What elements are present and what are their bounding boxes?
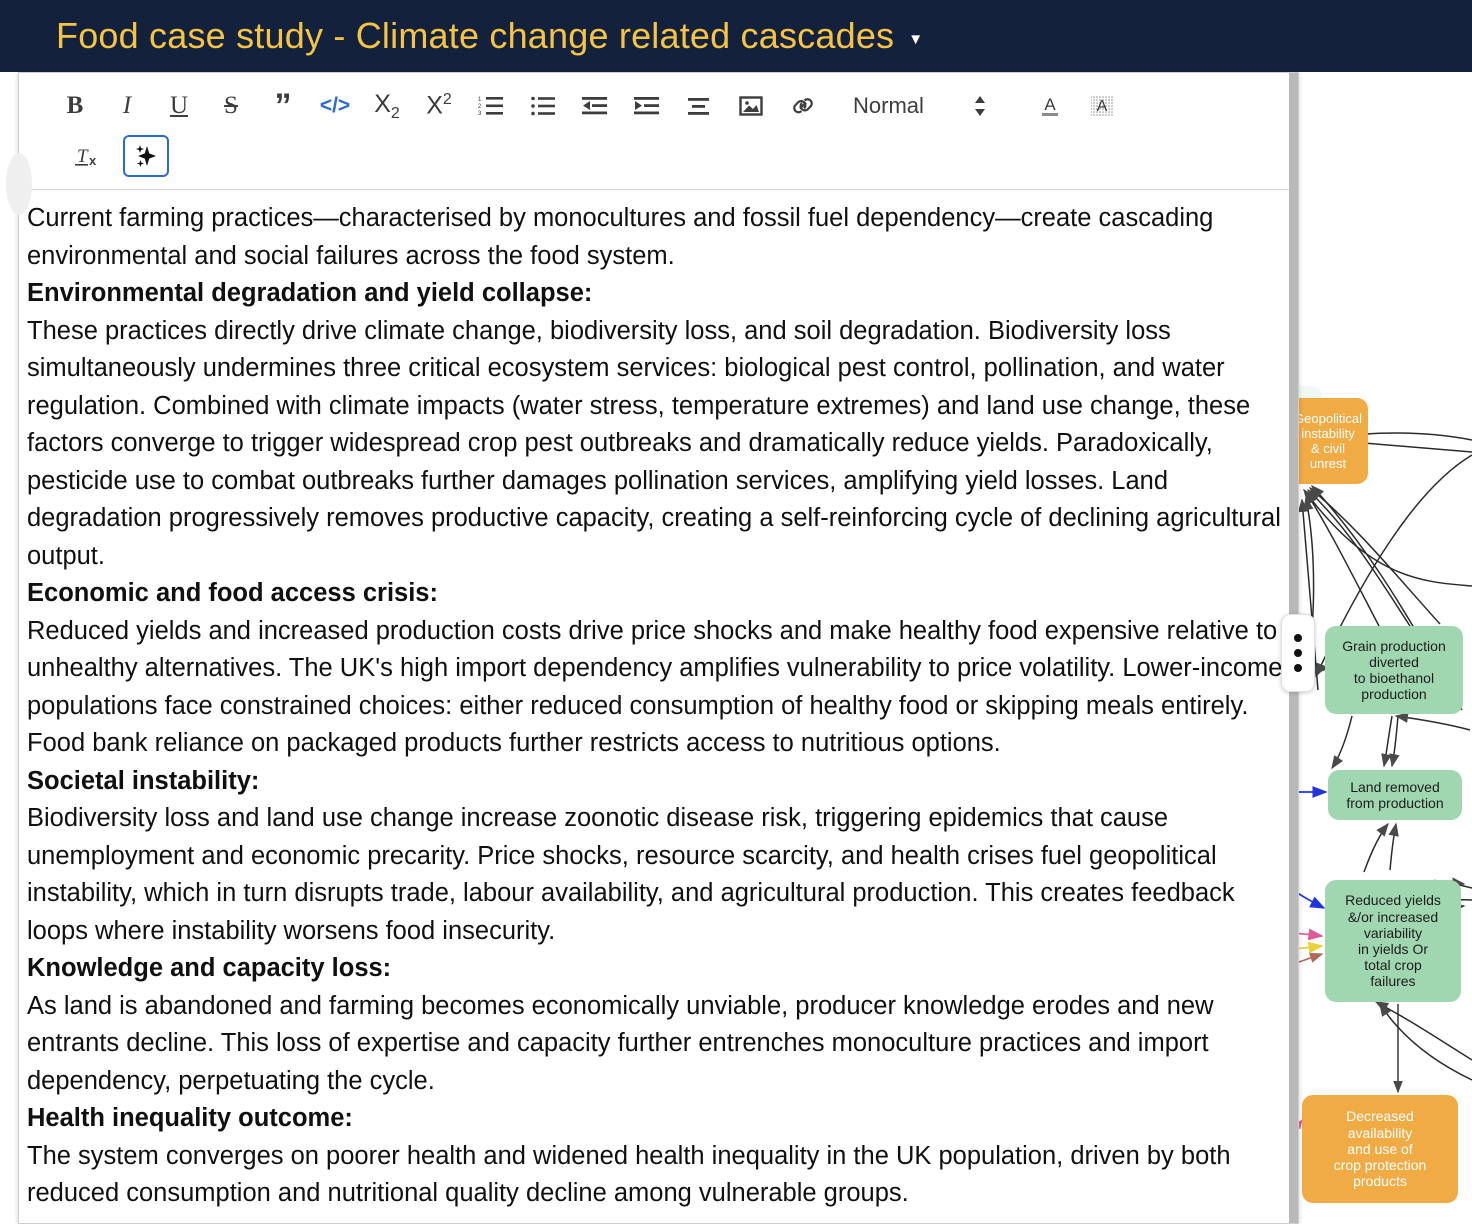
svg-text:3: 3 <box>478 111 482 117</box>
svg-text:1: 1 <box>478 97 482 103</box>
highlight-icon: A <box>1090 93 1114 119</box>
insert-image-button[interactable] <box>725 87 777 125</box>
bold-button[interactable]: B <box>49 87 101 125</box>
paragraph-societal-instability: Biodiversity loss and land use change in… <box>27 800 1288 950</box>
sparkle-icon <box>133 143 159 169</box>
panel-options-handle[interactable] <box>1281 614 1315 692</box>
panel-left-handle[interactable] <box>6 153 32 215</box>
toolbar-row-2: T x <box>49 135 1282 177</box>
image-icon <box>739 95 763 117</box>
subscript-button[interactable]: X2 <box>361 87 413 125</box>
heading-environmental-degradation: Environmental degradation and yield coll… <box>27 275 1288 313</box>
ordered-list-button[interactable]: 1 2 3 <box>465 87 517 125</box>
heading-societal-instability: Societal instability: <box>27 763 1288 801</box>
italic-icon: I <box>123 92 131 120</box>
heading-economic-food-access: Economic and food access crisis: <box>27 575 1288 613</box>
heading-knowledge-capacity-loss: Knowledge and capacity loss: <box>27 950 1288 988</box>
underline-icon: U <box>170 92 188 120</box>
code-icon: </> <box>320 94 350 118</box>
outdent-button[interactable] <box>569 87 621 125</box>
paragraph-intro: Current farming practices—characterised … <box>27 200 1288 275</box>
node-reduced-yields-variability-crop-failures[interactable]: Reduced yields &/or increased variabilit… <box>1325 880 1461 1002</box>
underline-button[interactable]: U <box>153 87 205 125</box>
svg-text:A: A <box>1097 98 1108 115</box>
format-select-label: Normal <box>853 93 924 119</box>
ordered-list-icon: 1 2 3 <box>478 95 504 117</box>
subscript-icon: X2 <box>374 90 400 123</box>
indent-button[interactable] <box>621 87 673 125</box>
quote-icon: ” <box>275 97 292 115</box>
svg-text:x: x <box>89 153 97 168</box>
clear-formatting-button[interactable]: T x <box>63 137 115 175</box>
link-icon <box>791 95 815 117</box>
paragraph-economic-food-access: Reduced yields and increased production … <box>27 613 1288 763</box>
svg-text:2: 2 <box>478 104 482 110</box>
heading-health-inequality-outcome: Health inequality outcome: <box>27 1100 1288 1138</box>
insert-link-button[interactable] <box>777 87 829 125</box>
outdent-icon <box>582 95 608 117</box>
blockquote-button[interactable]: ” <box>257 87 309 125</box>
format-stepper[interactable] <box>954 87 1006 125</box>
node-decreased-availability-crop-protection[interactable]: Decreased availability and use of crop p… <box>1302 1095 1458 1203</box>
highlight-color-button[interactable]: A <box>1076 87 1128 125</box>
app-root: Increased human epidemics Increased prev… <box>0 0 1472 1224</box>
title-bar: Food case study - Climate change related… <box>0 0 1472 72</box>
strikethrough-icon: S <box>224 92 238 120</box>
chevron-down-icon[interactable]: ▼ <box>908 31 923 48</box>
bullet-list-button[interactable] <box>517 87 569 125</box>
font-color-icon: A <box>1038 93 1062 119</box>
format-select[interactable]: Normal <box>847 87 930 125</box>
bullet-list-icon <box>530 95 556 117</box>
editor-content[interactable]: Current farming practices—characterised … <box>19 190 1298 1223</box>
svg-text:T: T <box>77 146 89 167</box>
svg-text:A: A <box>1044 95 1056 114</box>
superscript-button[interactable]: X2 <box>413 87 465 125</box>
align-button[interactable] <box>673 87 725 125</box>
superscript-icon: X2 <box>426 91 452 120</box>
ai-assist-button[interactable] <box>123 135 169 177</box>
bold-icon: B <box>67 92 84 120</box>
indent-icon <box>634 95 660 117</box>
editor-toolbar: B I U S ” </> X2 X2 1 2 3 <box>19 73 1298 190</box>
paragraph-knowledge-capacity-loss: As land is abandoned and farming becomes… <box>27 988 1288 1101</box>
align-icon <box>686 95 712 117</box>
dot-2 <box>1294 649 1302 657</box>
strikethrough-button[interactable]: S <box>205 87 257 125</box>
node-land-removed-from-production[interactable]: Land removed from production <box>1328 770 1462 820</box>
font-color-button[interactable]: A <box>1024 87 1076 125</box>
node-geopolitical-instability-civil-unrest[interactable]: Geopolitical instability & civil unrest <box>1288 398 1368 484</box>
italic-button[interactable]: I <box>101 87 153 125</box>
node-grain-production-diverted-bioethanol[interactable]: Grain production diverted to bioethanol … <box>1325 626 1463 714</box>
code-block-button[interactable]: </> <box>309 87 361 125</box>
clear-format-icon: T x <box>73 142 105 170</box>
paragraph-health-inequality-outcome: The system converges on poorer health an… <box>27 1138 1288 1213</box>
dot-1 <box>1294 634 1302 642</box>
page-title: Food case study - Climate change related… <box>0 15 894 57</box>
rich-text-editor-panel: B I U S ” </> X2 X2 1 2 3 <box>18 72 1299 1224</box>
paragraph-environmental-degradation: These practices directly drive climate c… <box>27 313 1288 576</box>
stepper-icon <box>973 94 987 118</box>
dot-3 <box>1294 664 1302 672</box>
